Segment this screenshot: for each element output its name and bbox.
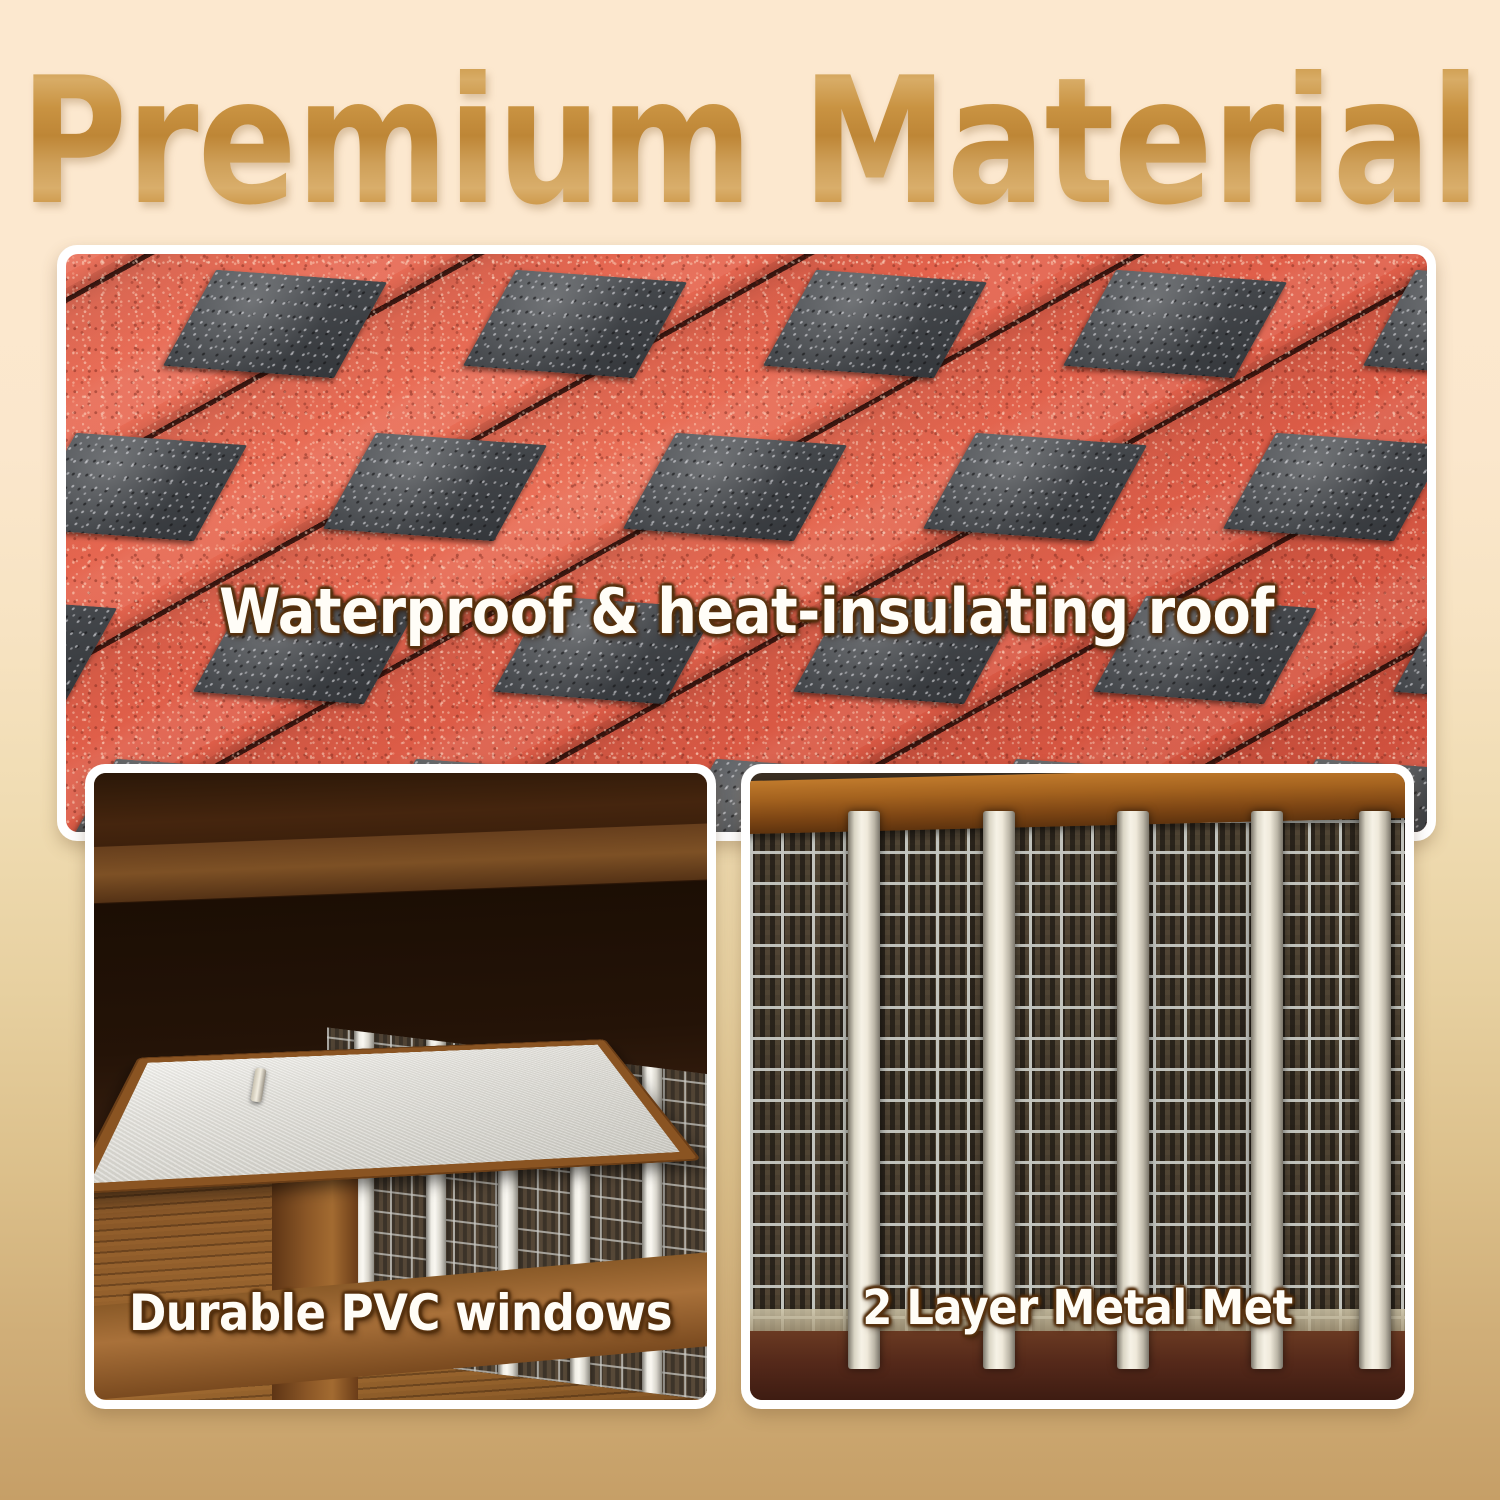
- feature-card-roof: Waterproof & heat-insulating roof: [57, 245, 1436, 841]
- pvc-caption: Durable PVC windows: [94, 1284, 707, 1342]
- feature-card-metal-mesh: 2 Layer Metal Met: [741, 764, 1414, 1409]
- roof-caption: Waterproof & heat-insulating roof: [66, 575, 1427, 648]
- feature-card-pvc-windows: Durable PVC windows: [85, 764, 716, 1409]
- roof-image: Waterproof & heat-insulating roof: [66, 254, 1427, 832]
- page-title-area: Premium Material: [0, 52, 1500, 232]
- pvc-window-image: Durable PVC windows: [94, 773, 707, 1400]
- mesh-caption: 2 Layer Metal Met: [750, 1280, 1405, 1336]
- metal-mesh-image: 2 Layer Metal Met: [750, 773, 1405, 1400]
- page-title: Premium Material: [20, 55, 1480, 230]
